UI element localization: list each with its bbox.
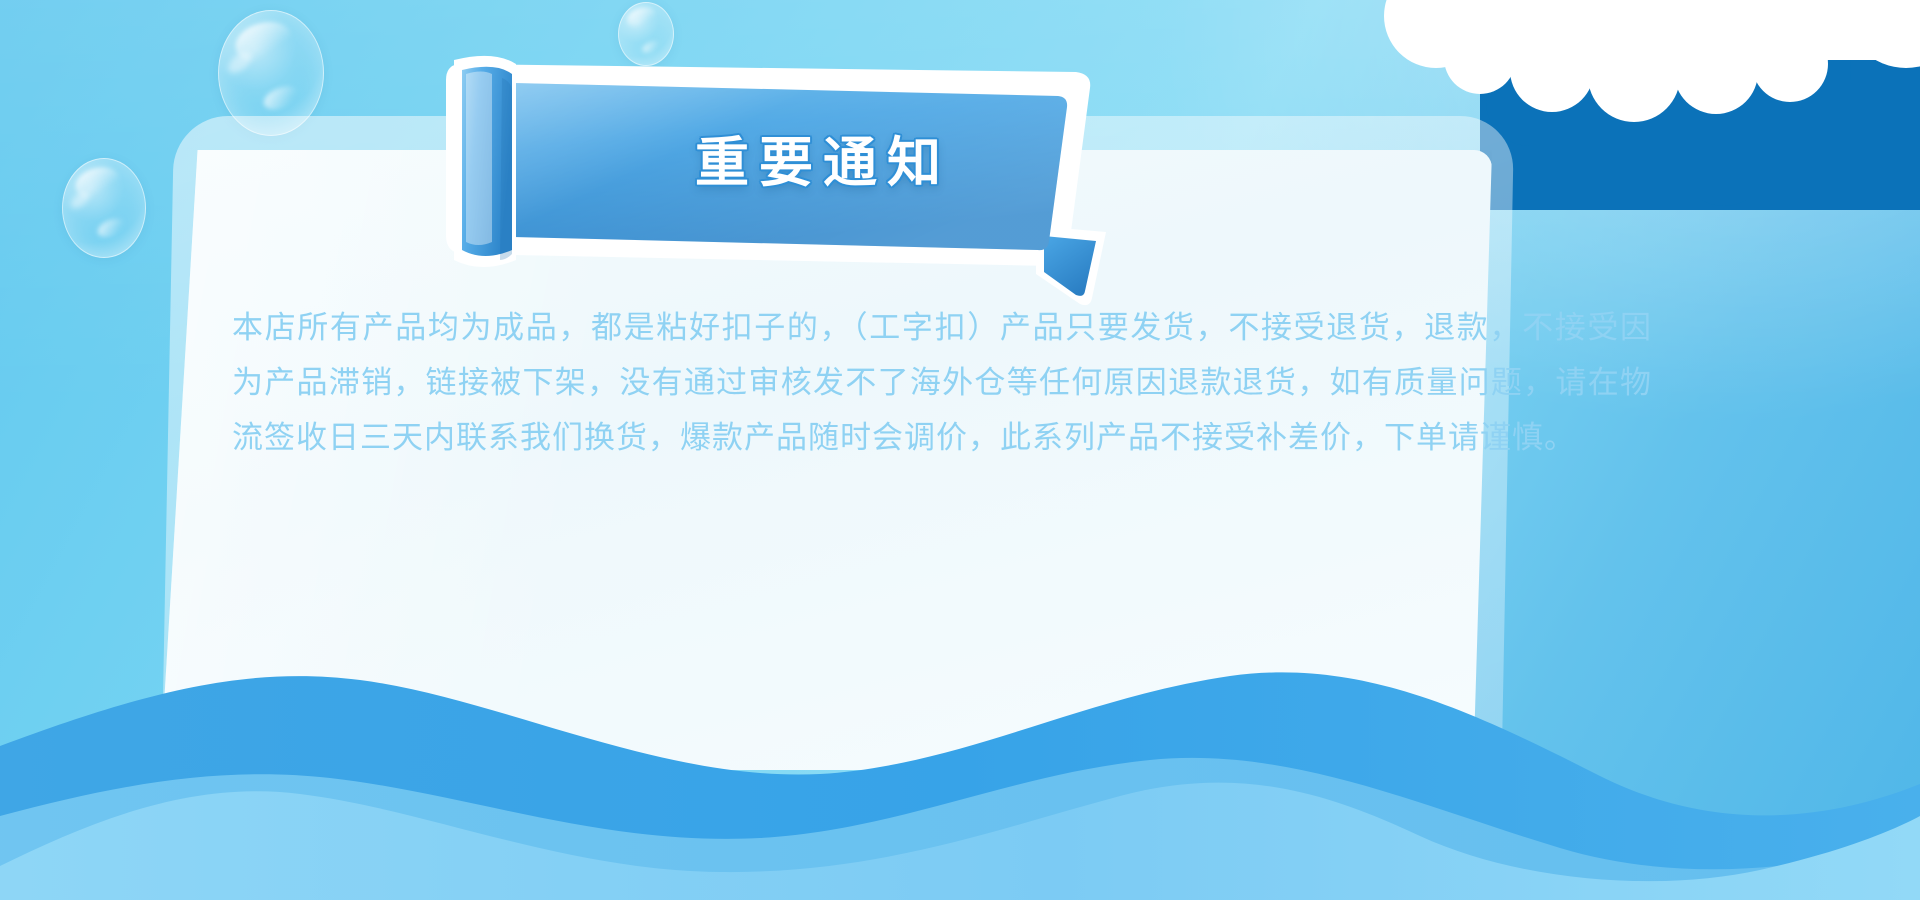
notice-poster: 本店所有产品均为成品，都是粘好扣子的，（工字扣）产品只要发货，不接受退货，退款，… [0, 0, 1920, 900]
wave-decoration [0, 570, 1920, 900]
banner-ribbon: 重要通知 [440, 48, 1120, 273]
notice-text: 本店所有产品均为成品，都是粘好扣子的，（工字扣）产品只要发货，不接受退货，退款，… [232, 300, 1652, 465]
bubble-medium-icon [62, 158, 146, 258]
